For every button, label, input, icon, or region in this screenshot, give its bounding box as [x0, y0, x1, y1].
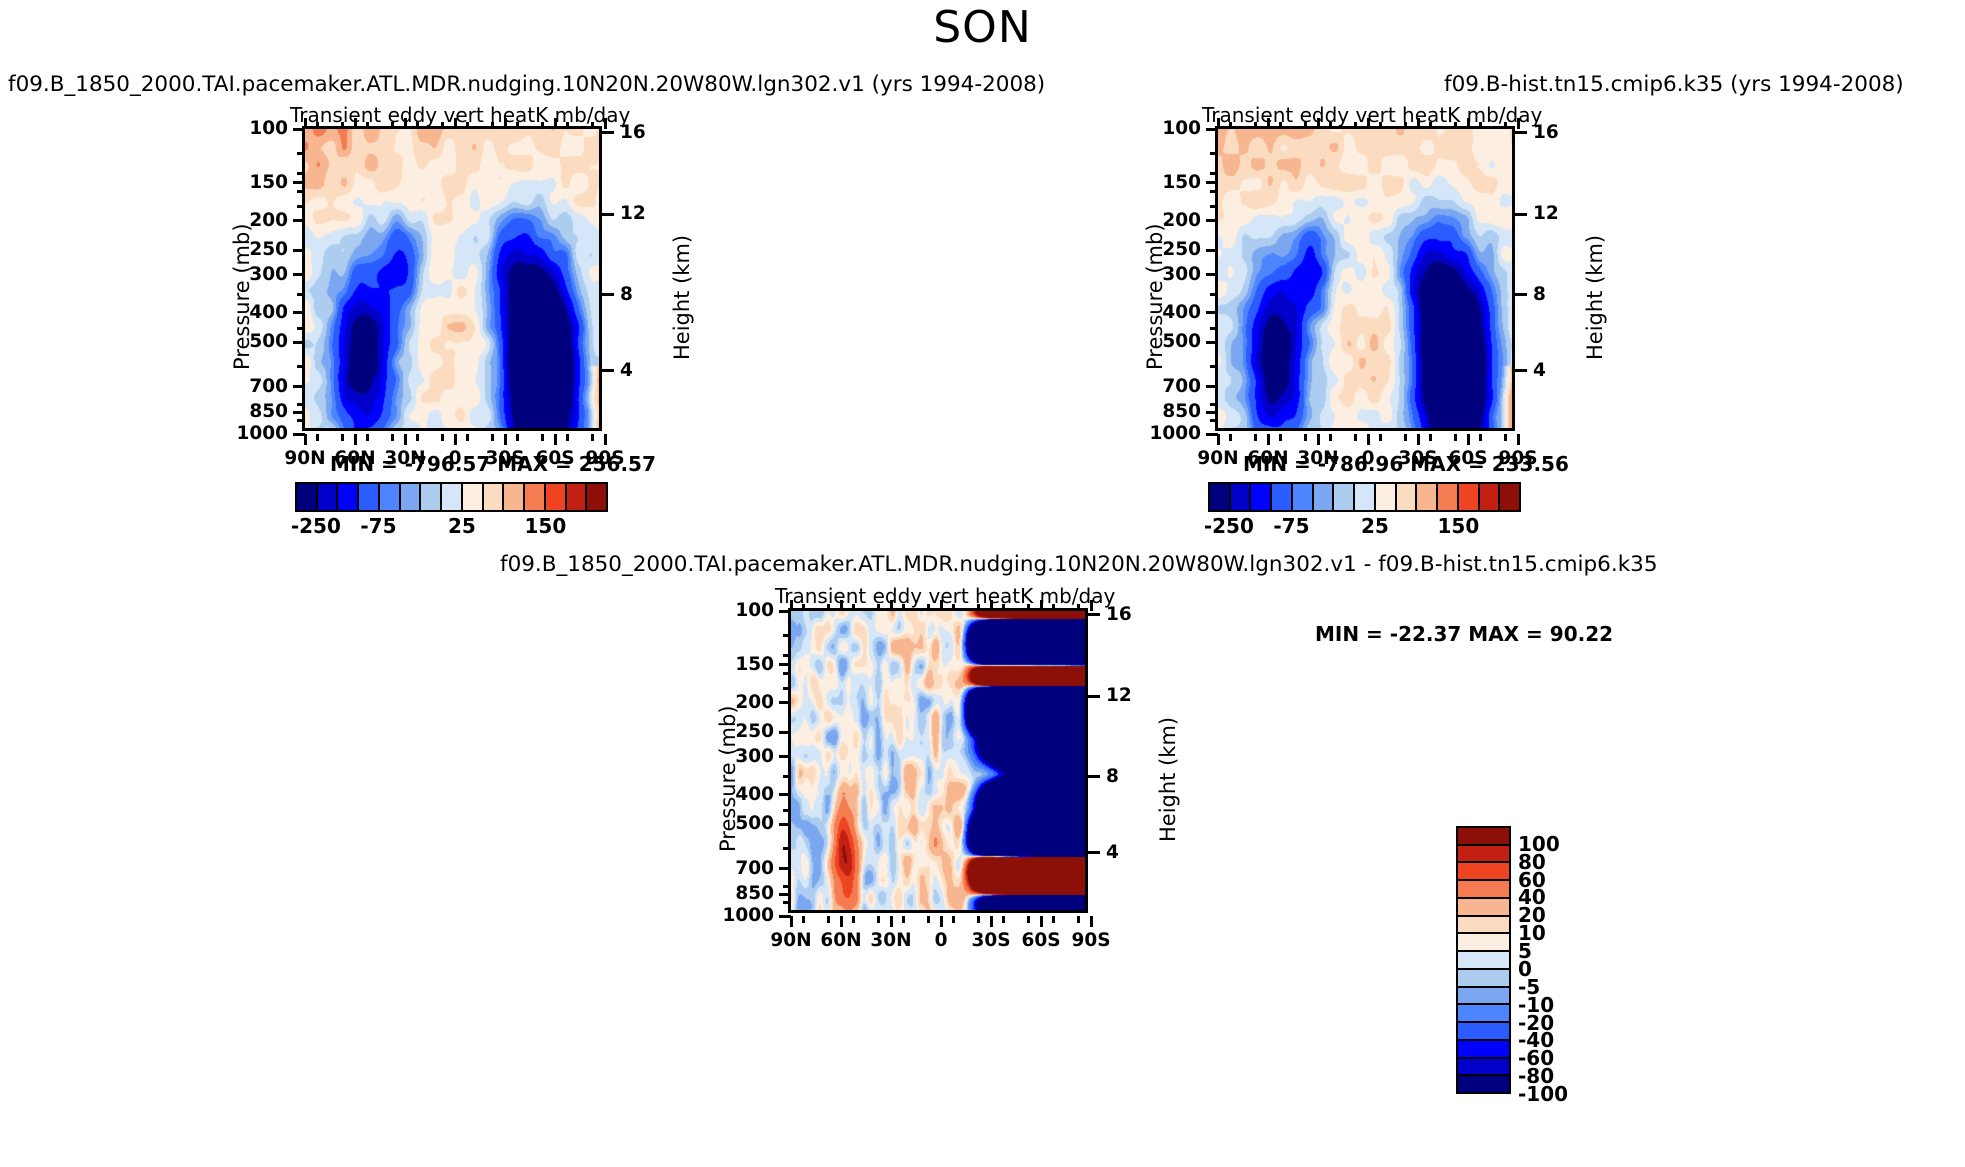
panel-left-colorbar-cell — [338, 484, 359, 510]
panel-left-colorbar-tick-label: 25 — [448, 514, 476, 538]
panel-right-xminor-tick — [1454, 434, 1457, 441]
panel-diff-xminor-tick — [1077, 916, 1080, 923]
panel-right-xminor-tick — [1504, 122, 1507, 129]
panel-right-xminor-tick — [1404, 434, 1407, 441]
panel-diff-ytick-label: 250 — [735, 721, 774, 742]
panel-left-yminor-tick — [297, 190, 305, 193]
panel-diff-xminor-tick — [927, 916, 930, 923]
panel-diff-colorbar-cell — [1458, 846, 1509, 864]
panel-right-colorbar[interactable] — [1208, 482, 1521, 512]
panel-right-xminor-tick — [1479, 434, 1482, 441]
panel-diff-ytick-label: 100 — [735, 600, 774, 621]
panel-diff-ytick-label: 700 — [735, 858, 774, 879]
panel-diff-xminor-tick — [827, 604, 830, 611]
panel-diff-title: f09.B_1850_2000.TAI.pacemaker.ATL.MDR.nu… — [500, 552, 1658, 577]
panel-diff-xtick — [1040, 916, 1043, 927]
panel-left-xtick — [304, 434, 307, 445]
panel-right-xtick-label: 90S — [1488, 448, 1548, 469]
panel-right-ytick-label: 150 — [1162, 172, 1201, 193]
panel-right-ytick — [1206, 311, 1218, 314]
panel-right-colorbar-cell — [1334, 484, 1355, 510]
panel-right-xminor-tick — [1254, 122, 1257, 129]
season-title: SON — [0, 2, 1965, 53]
panel-diff-xminor-tick — [1002, 604, 1005, 611]
panel-right-colorbar-labels: -250-7525150 — [1208, 514, 1521, 538]
panel-left-ytick-right-label: 12 — [620, 203, 646, 224]
panel-right-xminor-tick — [1329, 122, 1332, 129]
panel-diff-yminor-tick — [783, 687, 791, 690]
panel-right-xtick-top — [1267, 118, 1270, 129]
panel-left-xtick-top — [304, 118, 307, 129]
panel-right-xminor-tick — [1479, 122, 1482, 129]
panel-right-xminor-tick — [1254, 434, 1257, 441]
panel-diff-xtick — [890, 916, 893, 927]
panel-diff-xminor-tick — [977, 916, 980, 923]
panel-left-xminor-tick — [366, 122, 369, 129]
panel-left-yminor-tick — [297, 152, 305, 155]
panel-left-xminor-tick — [466, 122, 469, 129]
panel-left-xminor-tick — [316, 434, 319, 441]
panel-left-colorbar-cell — [401, 484, 422, 510]
panel-diff-yminor-tick — [783, 901, 791, 904]
panel-right-colorbar-cell — [1293, 484, 1314, 510]
panel-diff-yminor-tick — [783, 654, 791, 657]
panel-right-ytick-label: 250 — [1162, 239, 1201, 260]
panel-diff-xminor-tick — [877, 916, 880, 923]
panel-diff-colorbar-cell — [1458, 1005, 1509, 1023]
panel-diff-xminor-tick — [927, 604, 930, 611]
panel-right-ytick — [1206, 411, 1218, 414]
panel-diff-yminor-tick — [783, 809, 791, 812]
panel-left-xtick — [504, 434, 507, 445]
panel-diff-xminor-tick — [852, 604, 855, 611]
panel-diff-xtick — [990, 916, 993, 927]
panel-diff-ytick — [779, 823, 791, 826]
panel-right-xminor-tick — [1404, 122, 1407, 129]
panel-right-colorbar-cell — [1314, 484, 1335, 510]
panel-right-plot[interactable] — [1215, 126, 1515, 431]
panel-right-colorbar-cell — [1376, 484, 1397, 510]
panel-right-yminor-tick — [1210, 365, 1218, 368]
panel-left-xminor-tick — [466, 434, 469, 441]
panel-left-ytick-right — [602, 131, 614, 134]
panel-diff-colorbar-cell — [1458, 899, 1509, 917]
panel-right-xminor-tick — [1304, 434, 1307, 441]
panel-right-title: f09.B-hist.tn15.cmip6.k35 (yrs 1994-2008… — [1444, 72, 1904, 97]
panel-diff-ytick-label: 200 — [735, 692, 774, 713]
panel-right-xminor-tick — [1229, 122, 1232, 129]
panel-left-ytick — [293, 311, 305, 314]
panel-diff-xminor-tick — [902, 916, 905, 923]
panel-left-ytick — [293, 181, 305, 184]
panel-left-xminor-tick — [566, 434, 569, 441]
panel-right-ytick-right — [1515, 293, 1527, 296]
panel-left-colorbar-tick-label: 150 — [525, 514, 567, 538]
panel-left-ytick-label: 400 — [249, 302, 288, 323]
panel-diff-ytick-label: 150 — [735, 654, 774, 675]
panel-diff-xtick-top — [790, 600, 793, 611]
panel-right-xminor-tick — [1354, 122, 1357, 129]
panel-right-xminor-tick — [1379, 122, 1382, 129]
panel-diff-colorbar-cell — [1458, 1041, 1509, 1059]
panel-left-colorbar-cell — [442, 484, 463, 510]
panel-left-xtick-top — [404, 118, 407, 129]
panel-right-ytick — [1206, 341, 1218, 344]
panel-diff-colorbar-cell — [1458, 1059, 1509, 1077]
panel-right-ytick-label: 850 — [1162, 401, 1201, 422]
panel-diff-xminor-tick — [952, 916, 955, 923]
panel-right-subtitle: Transient eddy vert heatK mb/day — [1202, 103, 1522, 127]
panel-diff-xtick-top — [940, 600, 943, 611]
panel-left-yminor-tick — [297, 327, 305, 330]
panel-right-ytick-label: 1000 — [1150, 423, 1202, 444]
panel-diff-colorbar-cell — [1458, 970, 1509, 988]
panel-diff-ytick-right — [1088, 695, 1100, 698]
panel-right-xminor-tick — [1429, 434, 1432, 441]
panel-right-colorbar-tick-label: 25 — [1361, 514, 1389, 538]
panel-left-ytick-label: 200 — [249, 210, 288, 231]
panel-diff-xminor-tick — [1077, 604, 1080, 611]
panel-left-ytick-label: 500 — [249, 331, 288, 352]
panel-left-xminor-tick — [391, 434, 394, 441]
panel-diff-xminor-tick — [1027, 604, 1030, 611]
panel-left-ytick — [293, 385, 305, 388]
panel-right-ytick-right — [1515, 131, 1527, 134]
panel-diff-xtick-top — [990, 600, 993, 611]
panel-diff-colorbar-cell — [1458, 828, 1509, 846]
panel-diff-plot[interactable] — [788, 608, 1088, 913]
panel-right-xtick — [1417, 434, 1420, 445]
panel-left-xtick-top — [554, 118, 557, 129]
panel-diff-xtick-top — [1040, 600, 1043, 611]
panel-right-colorbar-cell — [1231, 484, 1252, 510]
panel-right-xtick — [1317, 434, 1320, 445]
panel-left-ytick-label: 250 — [249, 239, 288, 260]
panel-left-xminor-tick — [416, 122, 419, 129]
panel-left-xtick — [604, 434, 607, 445]
panel-left-colorbar[interactable] — [295, 482, 608, 512]
panel-diff-subtitle: Transient eddy vert heatK mb/day — [775, 584, 1095, 608]
panel-left-xminor-tick — [441, 122, 444, 129]
panel-left-xminor-tick — [391, 122, 394, 129]
panel-diff-colorbar-cell — [1458, 934, 1509, 952]
panel-left-xminor-tick — [591, 434, 594, 441]
panel-diff-ytick — [779, 701, 791, 704]
panel-left-yminor-tick — [297, 419, 305, 422]
panel-diff-ytick — [779, 867, 791, 870]
panel-right-xminor-tick — [1279, 434, 1282, 441]
panel-right-colorbar-cell — [1251, 484, 1272, 510]
panel-diff-xtick-top — [890, 600, 893, 611]
panel-left-colorbar-cell — [463, 484, 484, 510]
panel-left-ytick-right-label: 16 — [620, 122, 646, 143]
panel-right-ytick-right-label: 8 — [1533, 284, 1546, 305]
panel-left-title: f09.B_1850_2000.TAI.pacemaker.ATL.MDR.nu… — [8, 72, 1045, 97]
panel-diff-yminor-tick — [783, 634, 791, 637]
panel-left-xminor-tick — [491, 434, 494, 441]
panel-right-colorbar-cell — [1480, 484, 1501, 510]
panel-left-ytick-right — [602, 369, 614, 372]
panel-diff-ytick — [779, 793, 791, 796]
panel-diff-colorbar-labels: 100806040201050-5-10-20-40-60-80-100 — [1518, 826, 1628, 1094]
panel-left-xtick — [404, 434, 407, 445]
panel-diff-ytick-label: 400 — [735, 784, 774, 805]
panel-diff-colorbar-cell — [1458, 863, 1509, 881]
panel-left-subtitle: Transient eddy vert heatK mb/day — [290, 103, 610, 127]
panel-right-ytick — [1206, 385, 1218, 388]
panel-right-yminor-tick — [1210, 205, 1218, 208]
panel-diff-colorbar-cell — [1458, 1076, 1509, 1092]
panel-left-colorbar-cell — [587, 484, 606, 510]
panel-right-ytick — [1206, 219, 1218, 222]
panel-left-ytick — [293, 249, 305, 252]
panel-diff-colorbar-cell — [1458, 917, 1509, 935]
panel-left-colorbar-cell — [567, 484, 588, 510]
panel-right-colorbar-cell — [1210, 484, 1231, 510]
panel-diff-ytick-label: 1000 — [723, 905, 775, 926]
panel-left-ylabel-right: Height (km) — [670, 235, 694, 360]
panel-diff-colorbar-cell — [1458, 881, 1509, 899]
panel-diff-ytick-right-label: 16 — [1106, 604, 1132, 625]
panel-diff-ytick-right-label: 4 — [1106, 842, 1119, 863]
panel-diff-ytick — [779, 755, 791, 758]
panel-left-xtick-label: 90S — [575, 448, 635, 469]
panel-right-colorbar-cell — [1500, 484, 1519, 510]
panel-diff-ytick-label: 300 — [735, 746, 774, 767]
panel-diff-yminor-tick — [783, 775, 791, 778]
panel-left-xminor-tick — [341, 122, 344, 129]
panel-diff-minmax: MIN = -22.37 MAX = 90.22 — [1315, 622, 1613, 646]
panel-right-ytick-label: 500 — [1162, 331, 1201, 352]
panel-diff-xminor-tick — [852, 916, 855, 923]
panel-right-yminor-tick — [1210, 293, 1218, 296]
panel-right-xminor-tick — [1454, 122, 1457, 129]
panel-right-xtick-top — [1467, 118, 1470, 129]
panel-diff-yminor-tick — [783, 847, 791, 850]
panel-diff-yminor-tick — [783, 672, 791, 675]
panel-left-xminor-tick — [316, 122, 319, 129]
panel-left-ytick-right — [602, 293, 614, 296]
panel-left-xminor-tick — [416, 434, 419, 441]
panel-left-yminor-tick — [297, 172, 305, 175]
panel-diff-xtick — [1090, 916, 1093, 927]
panel-right-xtick-top — [1317, 118, 1320, 129]
panel-diff-ytick — [779, 731, 791, 734]
panel-diff-ytick-right — [1088, 851, 1100, 854]
panel-diff-ylabel-right: Height (km) — [1156, 717, 1180, 842]
panel-right-colorbar-tick-label: -250 — [1204, 514, 1254, 538]
panel-right-xminor-tick — [1304, 122, 1307, 129]
panel-right-ytick-right-label: 4 — [1533, 360, 1546, 381]
panel-left-xminor-tick — [366, 434, 369, 441]
panel-right-xtick — [1217, 434, 1220, 445]
panel-right-ytick-label: 200 — [1162, 210, 1201, 231]
panel-diff-xminor-tick — [1052, 916, 1055, 923]
panel-left-ytick — [293, 341, 305, 344]
panel-diff-xminor-tick — [902, 604, 905, 611]
panel-diff-colorbar-cell — [1458, 988, 1509, 1006]
panel-right-xtick-top — [1517, 118, 1520, 129]
panel-diff-ytick-label: 850 — [735, 883, 774, 904]
panel-diff-xminor-tick — [802, 604, 805, 611]
panel-right-xtick — [1517, 434, 1520, 445]
panel-left-xtick-top — [504, 118, 507, 129]
panel-diff-xminor-tick — [877, 604, 880, 611]
panel-right-xtick — [1467, 434, 1470, 445]
panel-right-xminor-tick — [1229, 434, 1232, 441]
panel-right-xtick-top — [1217, 118, 1220, 129]
panel-left-ytick-right-label: 8 — [620, 284, 633, 305]
panel-left-ytick-right — [602, 213, 614, 216]
panel-diff-xtick — [940, 916, 943, 927]
panel-right-xtick-top — [1367, 118, 1370, 129]
panel-diff-xtick-label: 90S — [1061, 930, 1121, 951]
panel-right-xminor-tick — [1354, 434, 1357, 441]
panel-right-colorbar-cell — [1417, 484, 1438, 510]
panel-right-xminor-tick — [1429, 122, 1432, 129]
panel-left-colorbar-cell — [546, 484, 567, 510]
panel-left-ytick-label: 850 — [249, 401, 288, 422]
panel-diff-xtick-top — [840, 600, 843, 611]
panel-left-plot[interactable] — [302, 126, 602, 431]
panel-right-xtick — [1367, 434, 1370, 445]
panel-right-ytick — [1206, 181, 1218, 184]
panel-diff-xminor-tick — [802, 916, 805, 923]
panel-left-ytick-label: 100 — [249, 118, 288, 139]
panel-right-yminor-tick — [1210, 327, 1218, 330]
panel-left-ytick — [293, 219, 305, 222]
panel-right-colorbar-tick-label: 150 — [1438, 514, 1480, 538]
panel-diff-xminor-tick — [1027, 916, 1030, 923]
panel-diff-ytick-right-label: 12 — [1106, 685, 1132, 706]
panel-diff-xminor-tick — [977, 604, 980, 611]
panel-left-xminor-tick — [541, 122, 544, 129]
panel-left-colorbar-cell — [525, 484, 546, 510]
panel-diff-colorbar[interactable] — [1456, 826, 1511, 1094]
panel-diff-xtick-top — [1090, 600, 1093, 611]
panel-right-ytick-right-label: 12 — [1533, 203, 1559, 224]
panel-left-ytick-label: 150 — [249, 172, 288, 193]
panel-left-xminor-tick — [516, 122, 519, 129]
panel-left-xtick-top — [354, 118, 357, 129]
panel-left-yminor-tick — [297, 403, 305, 406]
panel-right-ytick-right — [1515, 213, 1527, 216]
panel-right-yminor-tick — [1210, 152, 1218, 155]
panel-right-xminor-tick — [1329, 434, 1332, 441]
panel-right-ytick — [1206, 273, 1218, 276]
panel-left-colorbar-cell — [421, 484, 442, 510]
panel-diff-xminor-tick — [827, 916, 830, 923]
panel-left-ytick — [293, 411, 305, 414]
panel-diff-ytick — [779, 893, 791, 896]
panel-right-ytick-label: 100 — [1162, 118, 1201, 139]
panel-left-colorbar-cell — [318, 484, 339, 510]
panel-diff-colorbar-tick-label: -100 — [1518, 1082, 1568, 1106]
panel-right-colorbar-tick-label: -75 — [1273, 514, 1309, 538]
panel-diff-xtick — [790, 916, 793, 927]
panel-diff-ytick — [779, 663, 791, 666]
panel-right-xtick-top — [1417, 118, 1420, 129]
panel-diff-ytick-label: 500 — [735, 813, 774, 834]
panel-right-ytick-label: 700 — [1162, 376, 1201, 397]
panel-diff-ytick-right — [1088, 775, 1100, 778]
panel-right-yminor-tick — [1210, 190, 1218, 193]
panel-left-colorbar-cell — [297, 484, 318, 510]
panel-diff-xminor-tick — [952, 604, 955, 611]
panel-diff-xminor-tick — [1052, 604, 1055, 611]
panel-left-ytick-label: 1000 — [237, 423, 289, 444]
panel-right-colorbar-cell — [1459, 484, 1480, 510]
panel-diff-colorbar-cell — [1458, 1023, 1509, 1041]
panel-left-xtick-top — [454, 118, 457, 129]
panel-right-colorbar-cell — [1355, 484, 1376, 510]
panel-left-xminor-tick — [341, 434, 344, 441]
panel-right-ytick-label: 300 — [1162, 264, 1201, 285]
panel-left-colorbar-cell — [380, 484, 401, 510]
panel-diff-ytick-right-label: 8 — [1106, 766, 1119, 787]
panel-left-ytick-right-label: 4 — [620, 360, 633, 381]
panel-right-yminor-tick — [1210, 172, 1218, 175]
panel-diff-colorbar-cell — [1458, 952, 1509, 970]
panel-left-yminor-tick — [297, 205, 305, 208]
panel-left-colorbar-cell — [359, 484, 380, 510]
panel-left-yminor-tick — [297, 365, 305, 368]
panel-left-xtick — [454, 434, 457, 445]
panel-diff-ytick-right — [1088, 613, 1100, 616]
panel-right-ytick-right — [1515, 369, 1527, 372]
panel-left-yminor-tick — [297, 293, 305, 296]
panel-right-ylabel-right: Height (km) — [1583, 235, 1607, 360]
panel-left-xminor-tick — [541, 434, 544, 441]
panel-left-colorbar-cell — [504, 484, 525, 510]
panel-diff-xminor-tick — [1002, 916, 1005, 923]
panel-left-xminor-tick — [516, 434, 519, 441]
panel-right-colorbar-cell — [1438, 484, 1459, 510]
panel-left-xtick — [354, 434, 357, 445]
panel-right-yminor-tick — [1210, 419, 1218, 422]
panel-left-xtick-top — [604, 118, 607, 129]
panel-left-ytick — [293, 273, 305, 276]
panel-left-xminor-tick — [491, 122, 494, 129]
panel-right-colorbar-cell — [1272, 484, 1293, 510]
panel-right-xminor-tick — [1379, 434, 1382, 441]
panel-right-xtick — [1267, 434, 1270, 445]
panel-left-xtick — [554, 434, 557, 445]
panel-left-ytick-label: 300 — [249, 264, 288, 285]
panel-right-colorbar-cell — [1397, 484, 1418, 510]
panel-right-ytick-right-label: 16 — [1533, 122, 1559, 143]
panel-left-xminor-tick — [566, 122, 569, 129]
panel-left-ytick-label: 700 — [249, 376, 288, 397]
panel-right-yminor-tick — [1210, 403, 1218, 406]
panel-left-xminor-tick — [441, 434, 444, 441]
panel-right-ytick — [1206, 249, 1218, 252]
panel-right-ytick-label: 400 — [1162, 302, 1201, 323]
panel-diff-yminor-tick — [783, 885, 791, 888]
panel-right-xminor-tick — [1504, 434, 1507, 441]
panel-left-colorbar-labels: -250-7525150 — [295, 514, 608, 538]
panel-left-xminor-tick — [591, 122, 594, 129]
panel-diff-xtick — [840, 916, 843, 927]
panel-right-xminor-tick — [1279, 122, 1282, 129]
panel-left-colorbar-tick-label: -250 — [291, 514, 341, 538]
panel-left-colorbar-cell — [484, 484, 505, 510]
panel-left-colorbar-tick-label: -75 — [360, 514, 396, 538]
